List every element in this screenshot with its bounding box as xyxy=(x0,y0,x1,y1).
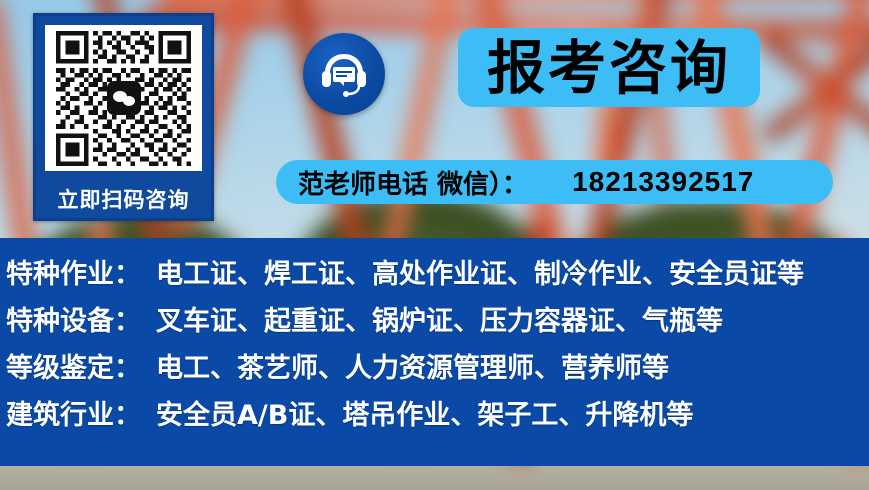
services-panel: 特种作业： 电工证、焊工证、高处作业证、制冷作业、安全员证等 特种设备： 叉车证… xyxy=(0,238,869,466)
info-category-label: 建筑行业： xyxy=(6,393,156,432)
info-row-grade-assessment: 等级鉴定： 电工、茶艺师、人力资源管理师、营养师等 xyxy=(6,346,869,393)
contact-phone-pill[interactable]: 范老师电话 微信）： 18213392517 xyxy=(276,160,833,204)
contact-label: 范老师电话 微信）： xyxy=(298,164,528,201)
info-items-list: 电工、茶艺师、人力资源管理师、营养师等 xyxy=(156,346,669,385)
headset-glyph xyxy=(319,49,369,99)
qr-card-caption: 立即扫码咨询 xyxy=(36,184,211,214)
info-row-special-equipment: 特种设备： 叉车证、起重证、锅炉证、压力容器证、气瓶等 xyxy=(6,299,869,346)
info-category-label: 等级鉴定： xyxy=(6,346,156,385)
contact-phone-number[interactable]: 18213392517 xyxy=(572,166,754,198)
page-title: 报考咨询 xyxy=(487,39,731,97)
info-row-construction-industry: 建筑行业： 安全员A/B证、塔吊作业、架子工、升降机等 xyxy=(6,393,869,440)
info-row-special-operations: 特种作业： 电工证、焊工证、高处作业证、制冷作业、安全员证等 xyxy=(6,252,869,299)
info-category-label: 特种作业： xyxy=(6,252,156,291)
promo-banner: 立即扫码咨询 报考咨询 范老师电话 微信）： 18213392517 特种作业：… xyxy=(0,0,869,490)
info-items-list: 叉车证、起重证、锅炉证、压力容器证、气瓶等 xyxy=(156,299,723,338)
wechat-icon xyxy=(107,81,141,115)
headset-support-icon xyxy=(303,33,385,115)
title-pill: 报考咨询 xyxy=(458,28,760,107)
qr-code-white-plate xyxy=(45,25,202,171)
info-items-list: 电工证、焊工证、高处作业证、制冷作业、安全员证等 xyxy=(156,252,804,291)
qr-code-card[interactable]: 立即扫码咨询 xyxy=(33,13,214,221)
info-category-label: 特种设备： xyxy=(6,299,156,338)
info-items-list: 安全员A/B证、塔吊作业、架子工、升降机等 xyxy=(156,393,693,432)
